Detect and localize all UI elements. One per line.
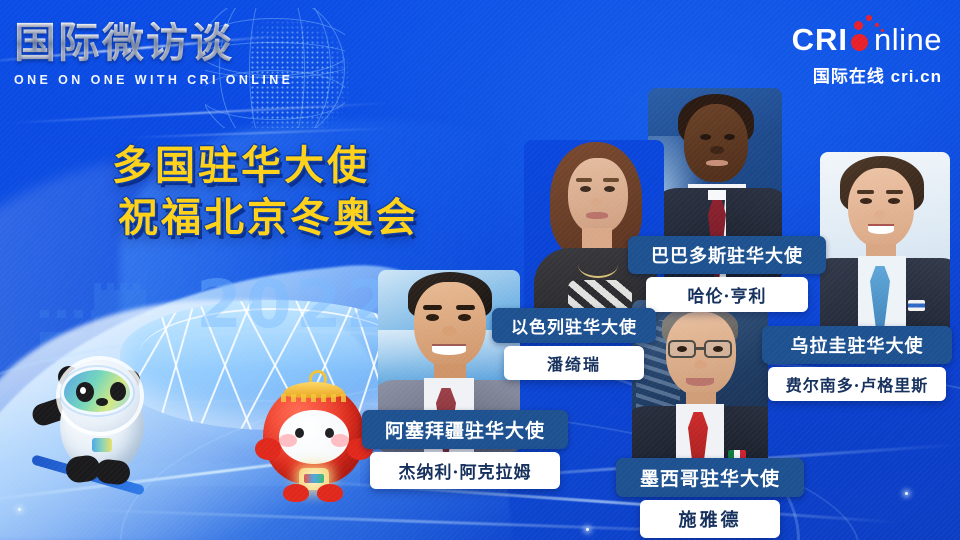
nameplate-role: 巴巴多斯驻华大使 — [628, 236, 826, 274]
cri-logo-dot — [851, 34, 868, 51]
title-line-2: 祝福北京冬奥会 — [118, 192, 419, 244]
sparkle — [905, 492, 908, 495]
nameplate-role: 乌拉圭驻华大使 — [762, 326, 952, 364]
nameplate-name: 费尔南多·卢格里斯 — [768, 367, 946, 401]
nameplate-azerbaijan[interactable]: 阿塞拜疆驻华大使 杰纳利·阿克拉姆 — [362, 410, 568, 489]
nameplate-role: 墨西哥驻华大使 — [616, 458, 804, 497]
title-line-1: 多国驻华大使 — [112, 140, 419, 192]
year-watermark: 2022 — [196, 266, 396, 343]
cri-wordmark: CRI — [792, 24, 848, 55]
nameplate-barbados[interactable]: 巴巴多斯驻华大使 哈伦·亨利 — [628, 236, 826, 312]
program-title-cn: 国际微访谈 — [14, 22, 314, 64]
light-streak — [130, 127, 390, 138]
page-title: 多国驻华大使 祝福北京冬奥会 — [112, 140, 419, 244]
cri-logo-dot — [866, 15, 872, 21]
cri-subtitle: 国际在线 cri.cn — [792, 62, 942, 87]
nameplate-name: 杰纳利·阿克拉姆 — [370, 452, 560, 489]
nameplate-role: 以色列驻华大使 — [492, 308, 656, 343]
bing-dwen-dwen-mascot — [36, 352, 166, 512]
light-streak — [10, 102, 390, 124]
sparkle — [18, 508, 21, 511]
portrait-uruguay[interactable] — [820, 152, 950, 340]
nameplate-role: 阿塞拜疆驻华大使 — [362, 410, 568, 449]
nameplate-mexico[interactable]: 墨西哥驻华大使 施雅德 — [616, 458, 804, 538]
cri-logo-dot — [854, 21, 863, 30]
shuey-rhon-rhon-mascot — [255, 372, 373, 512]
cri-logo-dot — [881, 29, 884, 32]
nameplate-israel[interactable]: 以色列驻华大使 潘绮瑞 — [492, 308, 656, 380]
cri-online-logo[interactable]: CRI nline 国际在线 cri.cn — [792, 24, 942, 87]
cri-logo-dot — [875, 23, 879, 27]
nameplate-name: 潘绮瑞 — [504, 346, 644, 380]
cri-online-text: nline — [874, 24, 942, 55]
sparkle — [586, 528, 589, 531]
program-logo: 国际微访谈 ONE ON ONE WITH CRI ONLINE — [14, 22, 314, 87]
program-title-en: ONE ON ONE WITH CRI ONLINE — [14, 73, 314, 87]
poster-canvas: 2022 — [0, 0, 960, 540]
nameplate-name: 哈伦·亨利 — [646, 277, 808, 312]
nameplate-uruguay[interactable]: 乌拉圭驻华大使 费尔南多·卢格里斯 — [762, 326, 952, 401]
nameplate-name: 施雅德 — [640, 500, 780, 538]
